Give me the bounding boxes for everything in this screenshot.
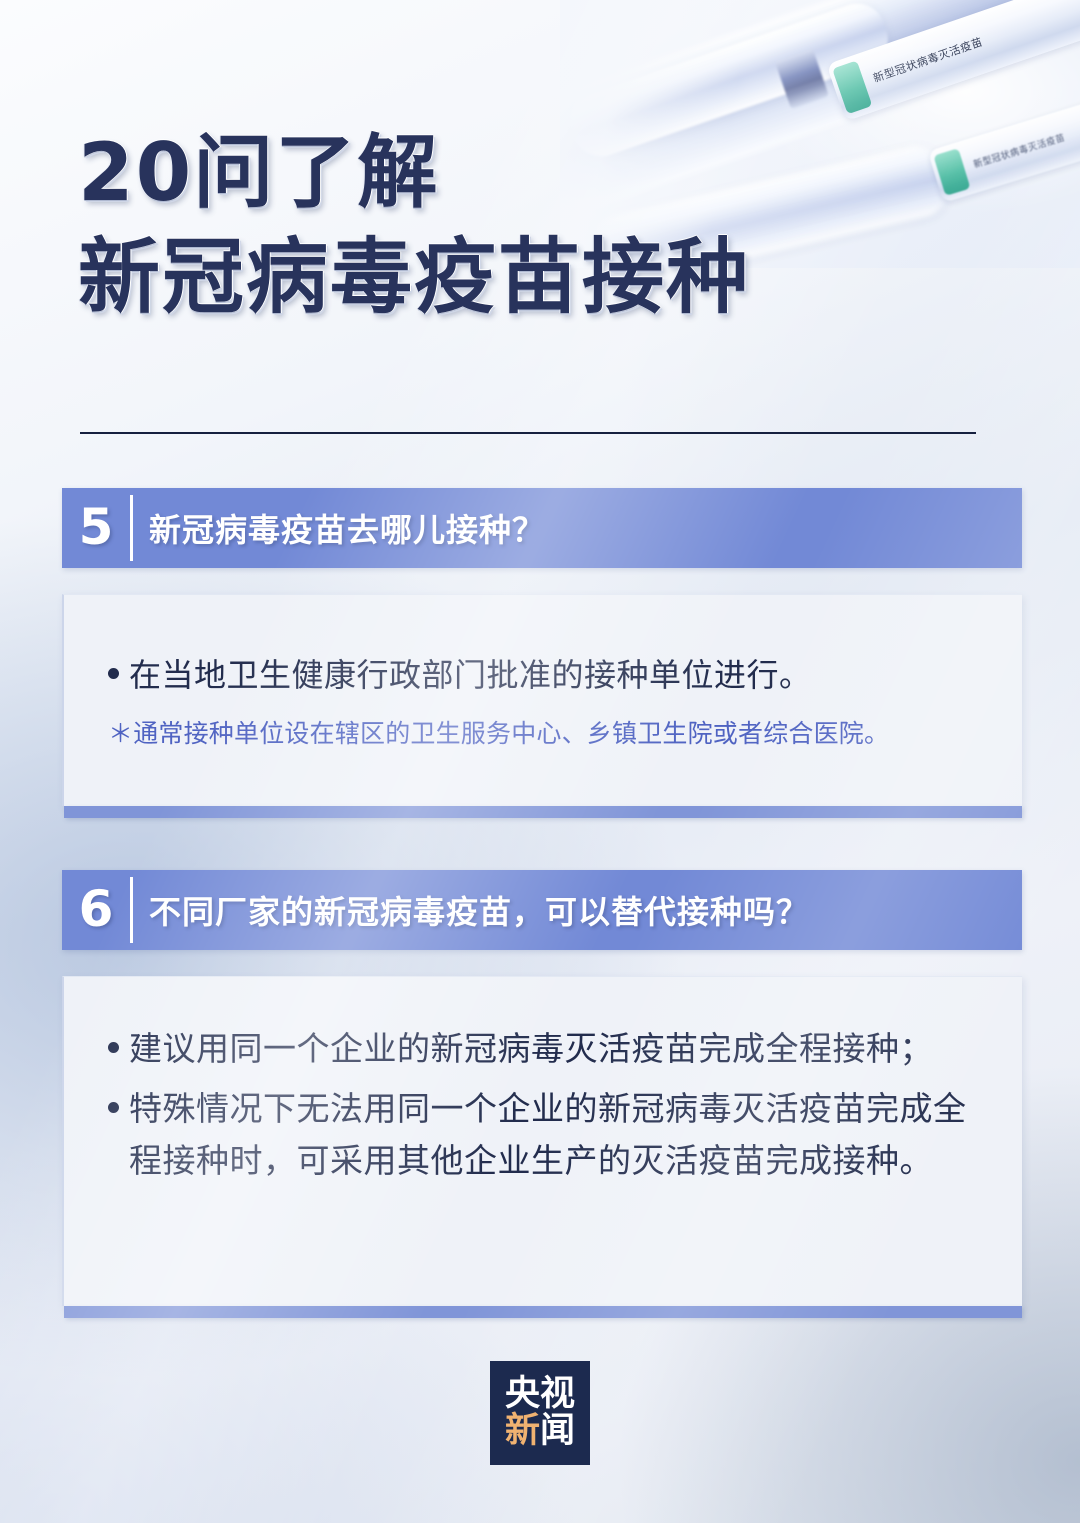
list-item: 特殊情况下无法用同一个企业的新冠病毒灭活疫苗完成全程接种时，可采用其他企业生产的… (108, 1083, 990, 1187)
logo-line-1: 央视 (505, 1376, 575, 1413)
list-item: 在当地卫生健康行政部门批准的接种单位进行。 (108, 651, 990, 700)
answer-card-6: 建议用同一个企业的新冠病毒灭活疫苗完成全程接种； 特殊情况下无法用同一个企业的新… (62, 976, 1022, 1306)
cctv-news-logo: 央视 新 闻 (490, 1361, 590, 1465)
logo-char-wen: 闻 (540, 1413, 575, 1450)
question-title-6: 不同厂家的新冠病毒疫苗，可以替代接种吗？ (149, 887, 809, 933)
qa-section-5: 5 新冠病毒疫苗去哪儿接种？ 在当地卫生健康行政部门批准的接种单位进行。 ＊通常… (0, 488, 1080, 806)
poster-canvas: 新型冠状病毒灭活疫苗 新型冠状病毒灭活疫苗 20问了解 新冠病毒疫苗接种 5 新… (0, 0, 1080, 1523)
question-header-6: 6 不同厂家的新冠病毒疫苗，可以替代接种吗？ (62, 870, 1022, 950)
question-title-5: 新冠病毒疫苗去哪儿接种？ (149, 505, 545, 551)
bullet-dot-icon (108, 1102, 119, 1113)
header-divider (130, 495, 133, 561)
logo-char-xin: 新 (505, 1413, 540, 1450)
answer-card-footer-bar (64, 1306, 1022, 1318)
bullet-text: 特殊情况下无法用同一个企业的新冠病毒灭活疫苗完成全程接种时，可采用其他企业生产的… (129, 1083, 990, 1187)
title-divider (80, 432, 976, 434)
question-header-5: 5 新冠病毒疫苗去哪儿接种？ (62, 488, 1022, 568)
bullet-text: 在当地卫生健康行政部门批准的接种单位进行。 (129, 651, 812, 700)
bullet-dot-icon (108, 1042, 119, 1053)
logo-line-2: 新 闻 (505, 1413, 575, 1450)
question-number-5: 5 (62, 502, 130, 555)
answer-card-5-body: 在当地卫生健康行政部门批准的接种单位进行。 ＊通常接种单位设在辖区的卫生服务中心… (64, 595, 1022, 792)
page-title: 20问了解 新冠病毒疫苗接种 (78, 128, 750, 323)
title-line-2: 新冠病毒疫苗接种 (78, 232, 750, 324)
bullet-dot-icon (108, 668, 119, 679)
title-line-1: 20问了解 (78, 128, 750, 218)
question-number-6: 6 (62, 884, 130, 937)
answer-card-6-body: 建议用同一个企业的新冠病毒灭活疫苗完成全程接种； 特殊情况下无法用同一个企业的新… (64, 977, 1022, 1235)
header-divider (130, 877, 133, 943)
answer-card-footer-bar (64, 806, 1022, 818)
bullet-text: 建议用同一个企业的新冠病毒灭活疫苗完成全程接种； (129, 1023, 933, 1075)
answer-card-5: 在当地卫生健康行政部门批准的接种单位进行。 ＊通常接种单位设在辖区的卫生服务中心… (62, 594, 1022, 806)
list-item: 建议用同一个企业的新冠病毒灭活疫苗完成全程接种； (108, 1023, 990, 1075)
qa-section-6: 6 不同厂家的新冠病毒疫苗，可以替代接种吗？ 建议用同一个企业的新冠病毒灭活疫苗… (0, 870, 1080, 1306)
answer-note-5: ＊通常接种单位设在辖区的卫生服务中心、乡镇卫生院或者综合医院。 (108, 716, 990, 752)
